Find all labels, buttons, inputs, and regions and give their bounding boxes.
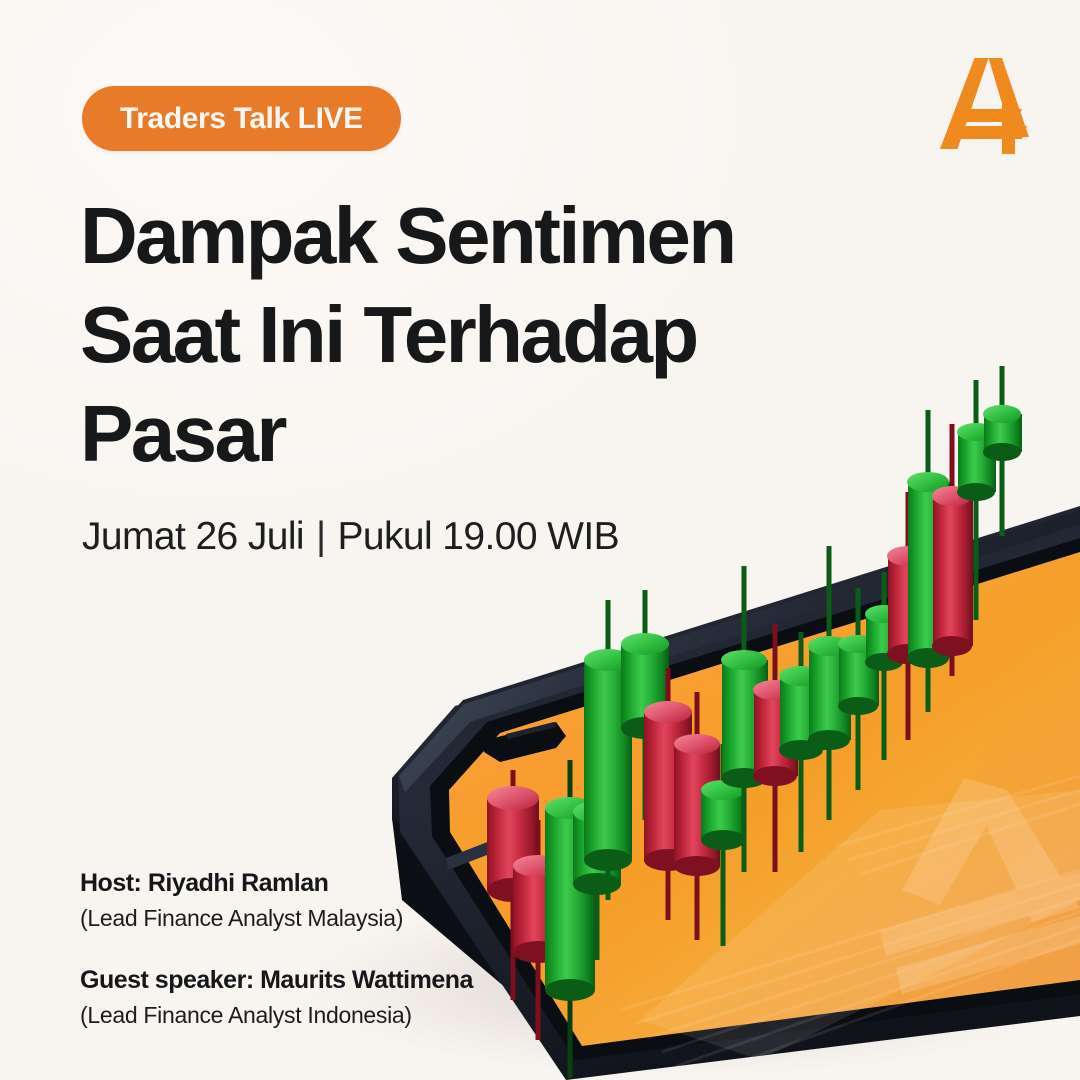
candle-4-bullish xyxy=(573,790,621,960)
schedule-date: Jumat 26 Juli xyxy=(82,515,304,559)
live-badge[interactable]: Traders Talk LIVE xyxy=(82,86,401,151)
candle-2-bearish xyxy=(513,820,563,1040)
candle-6-bullish xyxy=(621,590,669,820)
headline-line-3: Pasar xyxy=(80,384,800,483)
headline-line-1: Dampak Sentimen xyxy=(80,186,800,285)
guest-speaker-role: (Lead Finance Analyst Indonesia) xyxy=(80,1001,473,1031)
candle-10-bullish xyxy=(721,566,768,872)
candle-16-bearish xyxy=(887,492,930,740)
guest-speaker-name: Guest speaker: Maurits Wattimena xyxy=(80,965,473,996)
candle-19-bullish xyxy=(957,380,996,620)
candle-12-bullish xyxy=(779,632,824,852)
speakers-block: Host: Riyadhi Ramlan (Lead Finance Analy… xyxy=(80,868,473,1031)
candle-9-bullish xyxy=(701,744,745,946)
headline-line-2: Saat Ini Terhadap xyxy=(80,285,800,384)
schedule-time: Pukul 19.00 WIB xyxy=(338,515,619,559)
schedule-line: Jumat 26 Juli | Pukul 19.00 WIB xyxy=(82,515,619,559)
page-title: Dampak Sentimen Saat Ini Terhadap Pasar xyxy=(80,186,800,483)
candle-18-bearish xyxy=(932,424,973,676)
host-name: Host: Riyadhi Ramlan xyxy=(80,868,473,899)
candle-13-bullish xyxy=(808,546,851,820)
phone-notch xyxy=(484,722,566,762)
phone-earpiece xyxy=(506,722,556,739)
a-logo-watermark-icon xyxy=(880,778,1080,994)
candle-3-bullish xyxy=(545,760,595,1078)
host-role: (Lead Finance Analyst Malaysia) xyxy=(80,904,473,934)
phone-side-button xyxy=(446,838,500,870)
candle-1-bearish xyxy=(487,770,539,1000)
candle-8-bearish xyxy=(674,692,720,940)
candle-5-bullish xyxy=(584,600,632,900)
screen-light-panel xyxy=(640,790,1080,1060)
candle-14-bullish xyxy=(838,588,879,790)
smartphone-3d-icon xyxy=(392,506,1080,1080)
candle-17-bullish xyxy=(907,410,950,712)
guest-speaker-block: Guest speaker: Maurits Wattimena (Lead F… xyxy=(80,965,473,1030)
candle-11-bearish xyxy=(753,624,798,872)
ascendex-a-logo-icon xyxy=(930,52,1038,156)
schedule-separator: | xyxy=(316,515,326,559)
candle-7-bearish xyxy=(644,668,692,920)
live-badge-label: Traders Talk LIVE xyxy=(120,102,363,136)
screen-stripe-pattern xyxy=(620,776,1080,1080)
candle-20-bullish xyxy=(983,366,1022,536)
candle-15-bullish xyxy=(865,572,904,760)
host-block: Host: Riyadhi Ramlan (Lead Finance Analy… xyxy=(80,868,473,933)
promo-poster: Traders Talk LIVE Dampak Sentimen Saat I… xyxy=(0,0,1080,1080)
